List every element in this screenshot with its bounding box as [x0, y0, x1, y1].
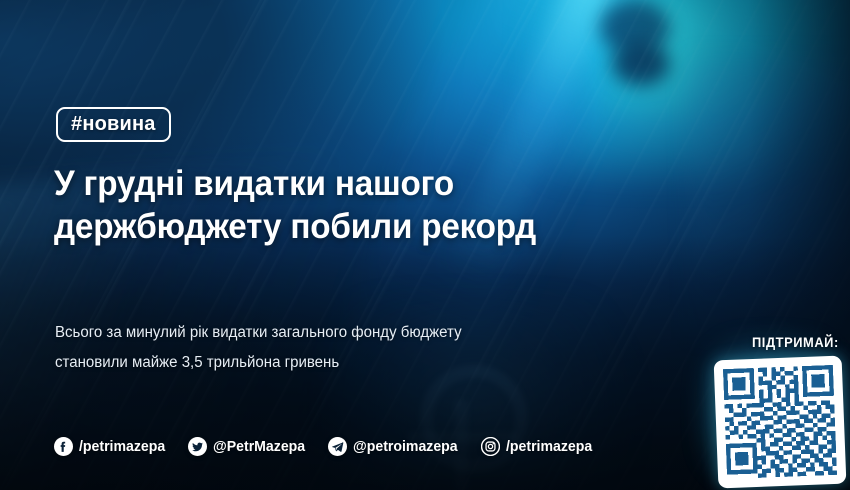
social-link-facebook[interactable]: /petrimazepa — [54, 437, 171, 456]
qr-code-image — [723, 365, 837, 479]
telegram-icon — [328, 437, 347, 456]
social-link-telegram[interactable]: @petroimazepa — [328, 437, 464, 456]
social-handle: /petrimazepa — [506, 439, 592, 454]
support-label: ПІДТРИМАЙ: — [752, 335, 839, 349]
news-card: #новина У грудні видатки нашого держбюдж… — [0, 0, 850, 490]
subtitle-text: Всього за минулий рік видатки загального… — [55, 318, 511, 378]
social-link-twitter[interactable]: @PetrMazepa — [188, 437, 311, 456]
twitter-icon — [188, 437, 207, 456]
content-layer: #новина У грудні видатки нашого держбюдж… — [0, 0, 850, 490]
page-title: У грудні видатки нашого держбюджету поби… — [54, 163, 643, 248]
social-link-instagram[interactable]: /petrimazepa — [481, 437, 598, 456]
support-block: ПІДТРИМАЙ: — [712, 330, 850, 490]
social-handle: @petroimazepa — [353, 439, 458, 454]
facebook-icon — [54, 437, 73, 456]
instagram-icon — [481, 437, 500, 456]
qr-code-card[interactable] — [714, 356, 847, 489]
social-links: /petrimazepa @PetrMazepa @petroimazepa — [54, 437, 598, 456]
category-tag[interactable]: #новина — [56, 107, 171, 142]
social-handle: /petrimazepa — [79, 439, 165, 454]
social-handle: @PetrMazepa — [213, 439, 305, 454]
